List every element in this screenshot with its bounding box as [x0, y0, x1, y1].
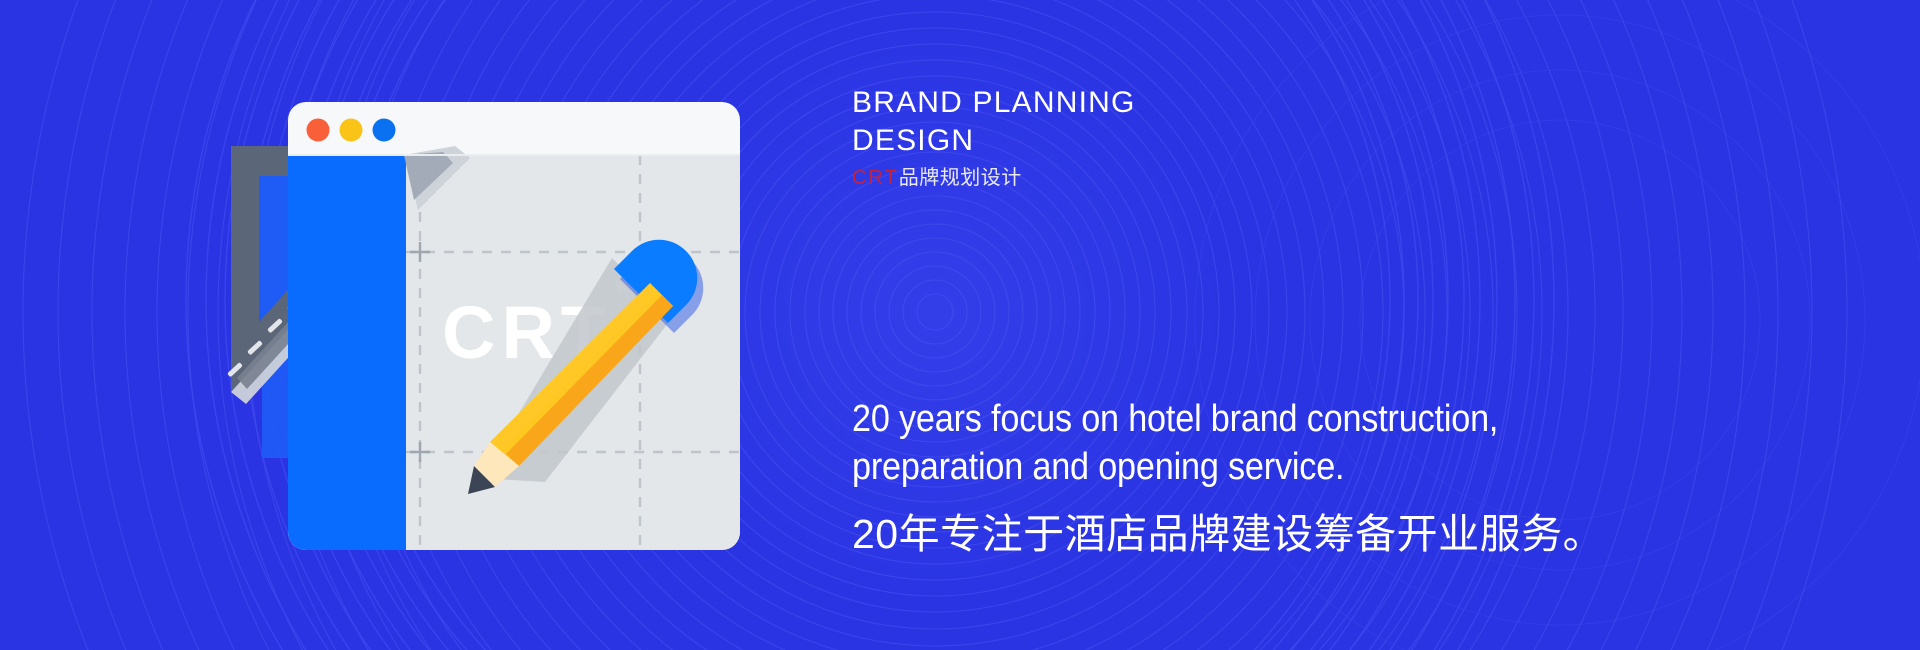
heading-subtitle: CRT品牌规划设计 [852, 165, 1136, 191]
heading-line-1: BRAND PLANNING [852, 84, 1136, 122]
close-dot [307, 119, 330, 142]
heading-block: BRAND PLANNING DESIGN CRT品牌规划设计 [852, 84, 1136, 191]
tagline-chinese: 20年专注于酒店品牌建设筹备开业服务。 [852, 505, 1792, 563]
window-control-dots [307, 119, 396, 142]
tagline-block: 20 years focus on hotel brand constructi… [852, 395, 1792, 563]
brand-design-illustration: CRT [0, 0, 920, 650]
minimize-dot [340, 119, 363, 142]
tagline-english-line-2: preparation and opening service. [852, 443, 1698, 491]
tagline-english-line-1: 20 years focus on hotel brand constructi… [852, 395, 1698, 443]
heading-line-2: DESIGN [852, 122, 1136, 160]
crt-brand-mark: CRT [852, 167, 899, 189]
maximize-dot [373, 119, 396, 142]
brand-banner: CRT [0, 0, 1920, 650]
heading-subtitle-text: 品牌规划设计 [899, 167, 1022, 189]
banner-text-column: BRAND PLANNING DESIGN CRT品牌规划设计 20 years… [852, 0, 1852, 650]
